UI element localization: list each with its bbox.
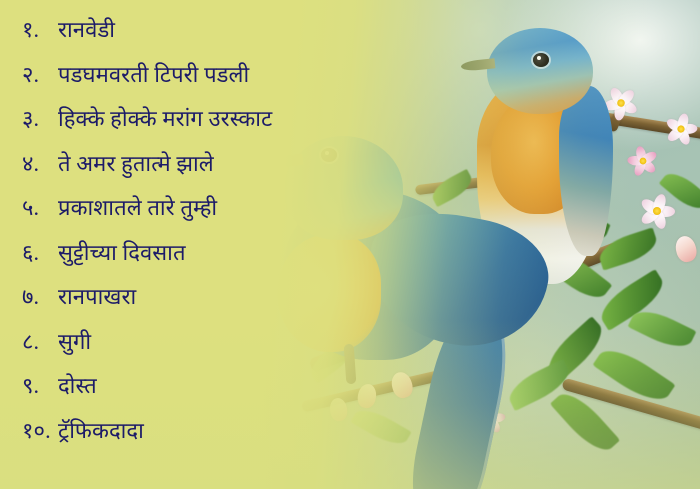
list-item-number: ९. [22, 364, 58, 409]
list-item-number: १०. [22, 409, 58, 454]
list-item-number: ८. [22, 320, 58, 365]
list-item-title: पडघमवरती टिपरी पडली [58, 53, 249, 98]
list-item: १. रानवेडी [22, 8, 440, 53]
list-item-title: सुट्टीच्या दिवसात [58, 231, 186, 276]
list-item: ६. सुट्टीच्या दिवसात [22, 231, 440, 276]
list-item: ८. सुगी [22, 320, 440, 365]
list-item: २. पडघमवरती टिपरी पडली [22, 53, 440, 98]
contents-list: १. रानवेडी २. पडघमवरती टिपरी पडली ३. हिक… [0, 0, 440, 453]
list-item-title: सुगी [58, 320, 91, 365]
list-item: १०. ट्रॅफिकदादा [22, 409, 440, 454]
list-item-number: २. [22, 53, 58, 98]
list-item-number: ४. [22, 142, 58, 187]
list-item-title: प्रकाशातले तारे तुम्ही [58, 186, 217, 231]
list-item-title: ट्रॅफिकदादा [58, 409, 144, 454]
list-item-title: ते अमर हुतात्मे झाले [58, 142, 214, 187]
list-item-number: १. [22, 8, 58, 53]
list-item-title: रानपाखरा [58, 275, 136, 320]
list-item-number: ३. [22, 97, 58, 142]
list-item-title: दोस्त [58, 364, 97, 409]
list-item: ७. रानपाखरा [22, 275, 440, 320]
list-item: ५. प्रकाशातले तारे तुम्ही [22, 186, 440, 231]
list-item: ९. दोस्त [22, 364, 440, 409]
list-item-title: रानवेडी [58, 8, 115, 53]
list-item-number: ५. [22, 186, 58, 231]
list-item-title: हिक्के होक्के मरांग उरस्काट [58, 97, 272, 142]
list-item: ३. हिक्के होक्के मरांग उरस्काट [22, 97, 440, 142]
list-item-number: ७. [22, 275, 58, 320]
index-page: १. रानवेडी २. पडघमवरती टिपरी पडली ३. हिक… [0, 0, 700, 489]
list-item-number: ६. [22, 231, 58, 276]
list-item: ४. ते अमर हुतात्मे झाले [22, 142, 440, 187]
